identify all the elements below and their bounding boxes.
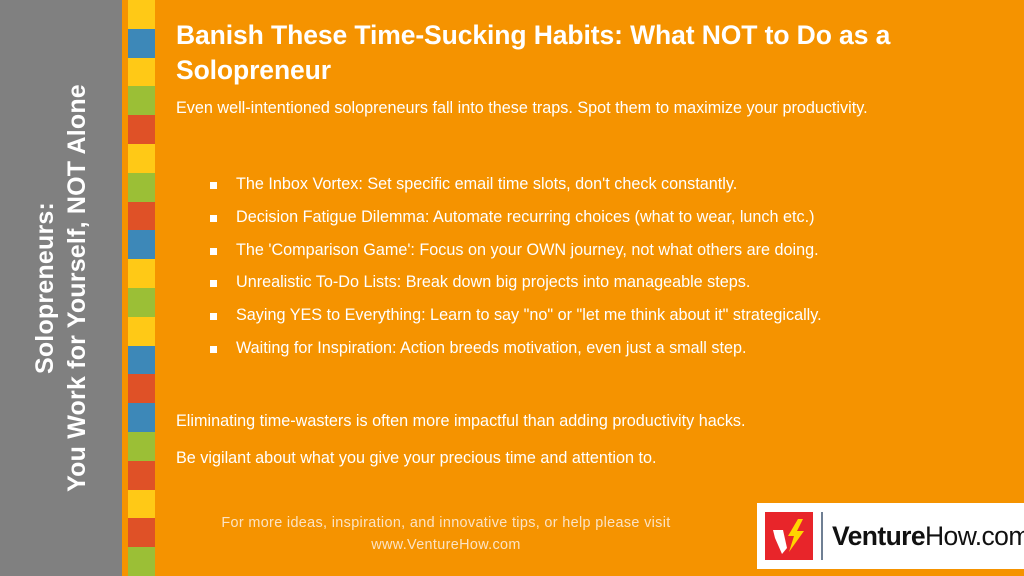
bullet-item: Saying YES to Everything: Learn to say "…	[202, 307, 1002, 323]
left-sidebar: Solopreneurs: You Work for Yourself, NOT…	[0, 0, 122, 576]
color-tile-6	[128, 144, 155, 173]
bullet-square-icon	[210, 248, 217, 255]
logo-wordmark-bold: Venture	[832, 521, 925, 551]
color-tile-11	[128, 288, 155, 317]
color-tile-20	[128, 547, 155, 576]
page-title: Banish These Time-Sucking Habits: What N…	[176, 18, 966, 88]
bullet-square-icon	[210, 280, 217, 287]
bullet-item: The Inbox Vortex: Set specific email tim…	[202, 176, 1002, 192]
sidebar-vertical-title-wrap: Solopreneurs: You Work for Yourself, NOT…	[0, 0, 122, 576]
sidebar-title-line-1: Solopreneurs:	[29, 84, 61, 492]
bullet-square-icon	[210, 182, 217, 189]
color-tile-10	[128, 259, 155, 288]
color-tile-2	[128, 29, 155, 58]
bullet-item-label: The Inbox Vortex: Set specific email tim…	[236, 175, 737, 193]
color-tile-16	[128, 432, 155, 461]
color-tile-5	[128, 115, 155, 144]
bullet-item-label: Waiting for Inspiration: Action breeds m…	[236, 339, 746, 357]
closing-statement-2: Be vigilant about what you give your pre…	[176, 448, 976, 469]
color-tile-9	[128, 230, 155, 259]
color-tile-strip	[128, 0, 155, 576]
venturehow-mark-icon	[765, 512, 813, 560]
footer-line-2[interactable]: www.VentureHow.com	[176, 534, 716, 556]
color-tile-19	[128, 518, 155, 547]
bullet-item-label: Saying YES to Everything: Learn to say "…	[236, 306, 822, 324]
color-tile-1	[128, 0, 155, 29]
color-tile-14	[128, 374, 155, 403]
closing-statement-1: Eliminating time-wasters is often more i…	[176, 411, 976, 432]
logo-wordmark-regular: How.com	[925, 521, 1024, 551]
color-tile-17	[128, 461, 155, 490]
color-tile-13	[128, 346, 155, 375]
venturehow-logo[interactable]: VentureHow.com	[757, 503, 1024, 569]
bullet-item-label: The 'Comparison Game': Focus on your OWN…	[236, 241, 819, 259]
bullet-item-label: Decision Fatigue Dilemma: Automate recur…	[236, 208, 815, 226]
footer-note: For more ideas, inspiration, and innovat…	[176, 512, 716, 557]
logo-divider	[821, 512, 823, 560]
bullet-item: Decision Fatigue Dilemma: Automate recur…	[202, 209, 1002, 225]
habits-bullet-list: The Inbox Vortex: Set specific email tim…	[202, 176, 1002, 373]
bullet-item-label: Unrealistic To-Do Lists: Break down big …	[236, 273, 750, 291]
bullet-item: Unrealistic To-Do Lists: Break down big …	[202, 274, 1002, 290]
footer-line-1: For more ideas, inspiration, and innovat…	[176, 512, 716, 534]
color-tile-12	[128, 317, 155, 346]
bullet-item: The 'Comparison Game': Focus on your OWN…	[202, 242, 1002, 258]
color-tile-3	[128, 58, 155, 87]
bullet-square-icon	[210, 346, 217, 353]
bullet-square-icon	[210, 215, 217, 222]
color-tile-7	[128, 173, 155, 202]
logo-wordmark: VentureHow.com	[832, 523, 1024, 550]
sidebar-vertical-title: Solopreneurs: You Work for Yourself, NOT…	[29, 84, 93, 492]
bullet-item: Waiting for Inspiration: Action breeds m…	[202, 340, 1002, 356]
sidebar-title-line-2: You Work for Yourself, NOT Alone	[61, 84, 93, 492]
bullet-square-icon	[210, 313, 217, 320]
main-content: Banish These Time-Sucking Habits: What N…	[176, 0, 1024, 576]
color-tile-15	[128, 403, 155, 432]
slide-canvas: Solopreneurs: You Work for Yourself, NOT…	[0, 0, 1024, 576]
color-tile-8	[128, 202, 155, 231]
color-tile-18	[128, 490, 155, 519]
page-subtitle: Even well-intentioned solopreneurs fall …	[176, 96, 936, 121]
color-tile-4	[128, 86, 155, 115]
